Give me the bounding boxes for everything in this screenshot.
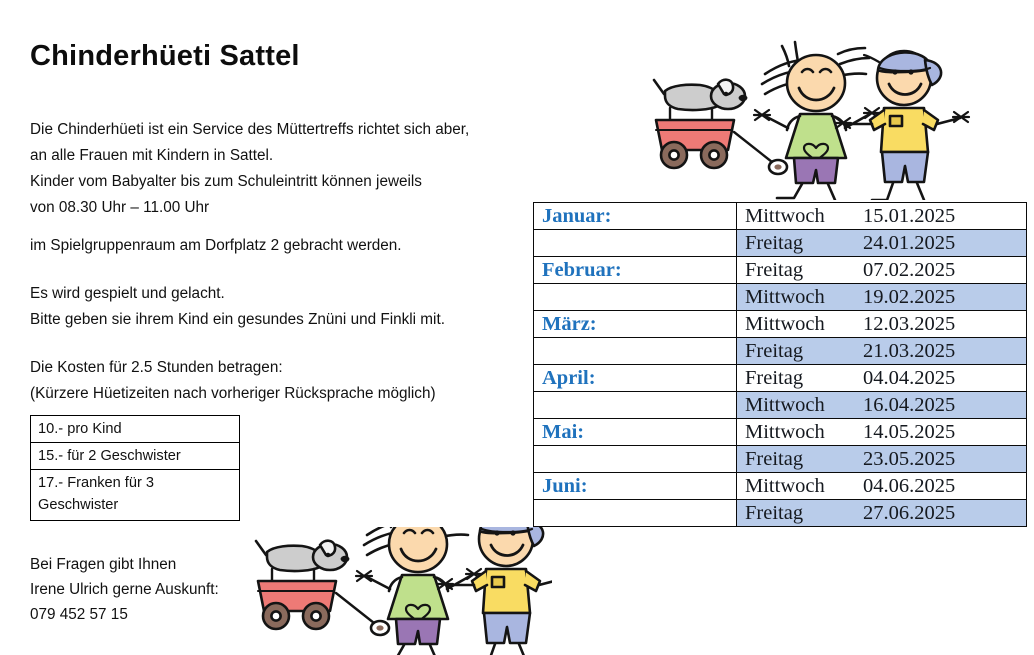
- intro-line: von 08.30 Uhr – 11.00 Uhr: [30, 195, 469, 221]
- date-cell: Freitag07.02.2025: [737, 257, 1027, 284]
- date-value: 07.02.2025: [863, 259, 955, 281]
- date-value: 12.03.2025: [863, 313, 955, 335]
- date-value: 24.01.2025: [863, 232, 955, 254]
- date-value: 21.03.2025: [863, 340, 955, 362]
- contact-line: Bei Fragen gibt Ihnen: [30, 552, 219, 577]
- activities-line: Bitte geben sie ihrem Kind ein gesundes …: [30, 307, 445, 333]
- date-cell: Freitag24.01.2025: [737, 230, 1027, 257]
- page-title: Chinderhüeti Sattel: [30, 40, 300, 73]
- children-with-dog-wagon-illustration: [632, 28, 972, 200]
- intro-line: an alle Frauen mit Kindern in Sattel.: [30, 143, 469, 169]
- date-cell: Mittwoch19.02.2025: [737, 284, 1027, 311]
- month-label: März:: [534, 311, 737, 338]
- month-label: [534, 284, 737, 311]
- date-cell: Mittwoch16.04.2025: [737, 392, 1027, 419]
- activities-paragraph: Es wird gespielt und gelacht. Bitte gebe…: [30, 281, 445, 333]
- costs-line: (Kürzere Hüetizeiten nach vorheriger Rüc…: [30, 381, 436, 407]
- weekday-label: Mittwoch: [745, 394, 863, 417]
- price-text: 10.- pro Kind: [38, 421, 122, 437]
- table-row: Mai: Mittwoch14.05.2025: [534, 419, 1027, 446]
- dates-table: Januar: Mittwoch15.01.2025 Freitag24.01.…: [533, 202, 1027, 527]
- month-label: [534, 392, 737, 419]
- table-row: Freitag23.05.2025: [534, 446, 1027, 473]
- month-label: [534, 500, 737, 527]
- intro-paragraph: Die Chinderhüeti ist ein Service des Müt…: [30, 117, 469, 221]
- date-value: 23.05.2025: [863, 448, 955, 470]
- date-cell: Freitag27.06.2025: [737, 500, 1027, 527]
- month-label: [534, 338, 737, 365]
- table-row: Mittwoch16.04.2025: [534, 392, 1027, 419]
- weekday-label: Freitag: [745, 232, 863, 255]
- date-cell: Freitag23.05.2025: [737, 446, 1027, 473]
- contact-line: Irene Ulrich gerne Auskunft:: [30, 577, 219, 602]
- table-row: Februar: Freitag07.02.2025: [534, 257, 1027, 284]
- weekday-label: Freitag: [745, 340, 863, 363]
- date-cell: Mittwoch15.01.2025: [737, 203, 1027, 230]
- dates-table-body: Januar: Mittwoch15.01.2025 Freitag24.01.…: [534, 203, 1027, 527]
- date-value: 19.02.2025: [863, 286, 955, 308]
- weekday-label: Mittwoch: [745, 286, 863, 309]
- price-text: 17.- Franken für 3: [38, 475, 154, 491]
- contact-phone: 079 452 57 15: [30, 602, 219, 627]
- date-cell: Mittwoch12.03.2025: [737, 311, 1027, 338]
- month-label: Januar:: [534, 203, 737, 230]
- month-label: Juni:: [534, 473, 737, 500]
- date-cell: Mittwoch14.05.2025: [737, 419, 1027, 446]
- table-row: Freitag27.06.2025: [534, 500, 1027, 527]
- date-value: 04.06.2025: [863, 475, 955, 497]
- activities-line: Es wird gespielt und gelacht.: [30, 281, 445, 307]
- intro-line: Kinder vom Babyalter bis zum Schuleintri…: [30, 169, 469, 195]
- costs-line: Die Kosten für 2.5 Stunden betragen:: [30, 355, 436, 381]
- month-label: Mai:: [534, 419, 737, 446]
- weekday-label: Mittwoch: [745, 475, 863, 498]
- weekday-label: Freitag: [745, 448, 863, 471]
- weekday-label: Freitag: [745, 259, 863, 282]
- date-cell: Mittwoch04.06.2025: [737, 473, 1027, 500]
- weekday-label: Freitag: [745, 502, 863, 525]
- month-label: [534, 230, 737, 257]
- date-cell: Freitag04.04.2025: [737, 365, 1027, 392]
- table-row: Freitag24.01.2025: [534, 230, 1027, 257]
- weekday-label: Freitag: [745, 367, 863, 390]
- price-row: 10.- pro Kind: [31, 416, 239, 443]
- price-text-cont: Geschwister: [38, 497, 118, 513]
- month-label: [534, 446, 737, 473]
- weekday-label: Mittwoch: [745, 421, 863, 444]
- table-row: Freitag21.03.2025: [534, 338, 1027, 365]
- location-line: im Spielgruppenraum am Dorfplatz 2 gebra…: [30, 233, 402, 259]
- date-value: 16.04.2025: [863, 394, 955, 416]
- date-value: 27.06.2025: [863, 502, 955, 524]
- costs-paragraph: Die Kosten für 2.5 Stunden betragen: (Kü…: [30, 355, 436, 407]
- price-row: 15.- für 2 Geschwister: [31, 443, 239, 470]
- month-label: Februar:: [534, 257, 737, 284]
- price-text: 15.- für 2 Geschwister: [38, 448, 181, 464]
- date-value: 15.01.2025: [863, 205, 955, 227]
- table-row: Juni: Mittwoch04.06.2025: [534, 473, 1027, 500]
- table-row: Januar: Mittwoch15.01.2025: [534, 203, 1027, 230]
- price-row: 17.- Franken für 3 Geschwister: [31, 470, 239, 520]
- table-row: März: Mittwoch12.03.2025: [534, 311, 1027, 338]
- date-value: 04.04.2025: [863, 367, 955, 389]
- weekday-label: Mittwoch: [745, 205, 863, 228]
- location-paragraph: im Spielgruppenraum am Dorfplatz 2 gebra…: [30, 233, 402, 259]
- weekday-label: Mittwoch: [745, 313, 863, 336]
- children-with-dog-wagon-illustration-bottom: [252, 527, 552, 655]
- date-value: 14.05.2025: [863, 421, 955, 443]
- month-label: April:: [534, 365, 737, 392]
- intro-line: Die Chinderhüeti ist ein Service des Müt…: [30, 117, 469, 143]
- contact-paragraph: Bei Fragen gibt Ihnen Irene Ulrich gerne…: [30, 552, 219, 627]
- date-cell: Freitag21.03.2025: [737, 338, 1027, 365]
- table-row: April: Freitag04.04.2025: [534, 365, 1027, 392]
- table-row: Mittwoch19.02.2025: [534, 284, 1027, 311]
- price-table: 10.- pro Kind 15.- für 2 Geschwister 17.…: [30, 415, 240, 521]
